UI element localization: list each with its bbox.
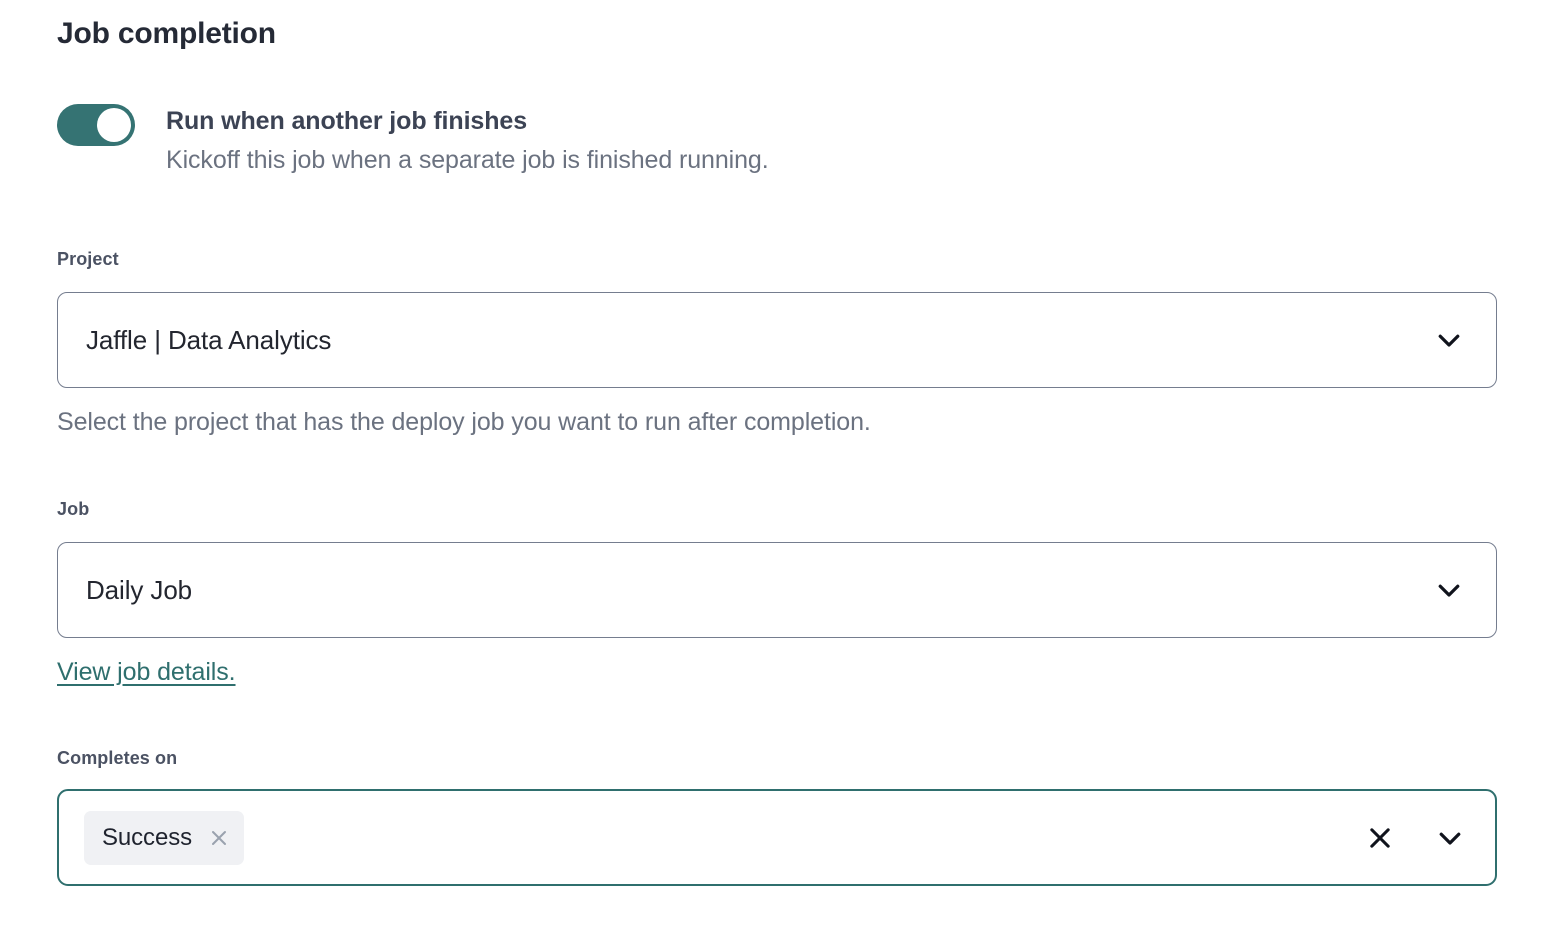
toggle-description: Kickoff this job when a separate job is … xyxy=(166,144,769,176)
completes-on-multiselect[interactable]: Success xyxy=(57,789,1497,886)
project-select[interactable]: Jaffle | Data Analytics xyxy=(57,292,1497,388)
view-job-details-link[interactable]: View job details. xyxy=(57,658,236,687)
toggle-text-block: Run when another job finishes Kickoff th… xyxy=(166,104,769,176)
toggle-knob xyxy=(97,108,131,142)
job-selected-value: Daily Job xyxy=(58,575,1426,606)
toggle-label: Run when another job finishes xyxy=(166,105,769,137)
job-completion-panel: Job completion Run when another job fini… xyxy=(0,0,1564,936)
chevron-down-icon[interactable] xyxy=(1428,816,1472,860)
project-label: Project xyxy=(57,249,119,270)
close-icon[interactable] xyxy=(1360,818,1400,858)
run-when-another-job-finishes-toggle[interactable] xyxy=(57,104,135,146)
chevron-down-icon[interactable] xyxy=(1426,567,1472,613)
close-icon[interactable] xyxy=(208,827,230,849)
multiselect-actions xyxy=(1360,816,1472,860)
run-on-job-completion-row: Run when another job finishes Kickoff th… xyxy=(57,104,769,176)
page-title: Job completion xyxy=(57,16,276,52)
chevron-down-icon[interactable] xyxy=(1426,317,1472,363)
job-select[interactable]: Daily Job xyxy=(57,542,1497,638)
completes-on-tag-list: Success xyxy=(59,811,1360,865)
job-label: Job xyxy=(57,499,89,520)
tag-label: Success xyxy=(102,824,192,852)
project-selected-value: Jaffle | Data Analytics xyxy=(58,325,1426,356)
tag-success[interactable]: Success xyxy=(84,811,244,865)
completes-on-label: Completes on xyxy=(57,748,177,769)
project-helper-text: Select the project that has the deploy j… xyxy=(57,408,871,437)
